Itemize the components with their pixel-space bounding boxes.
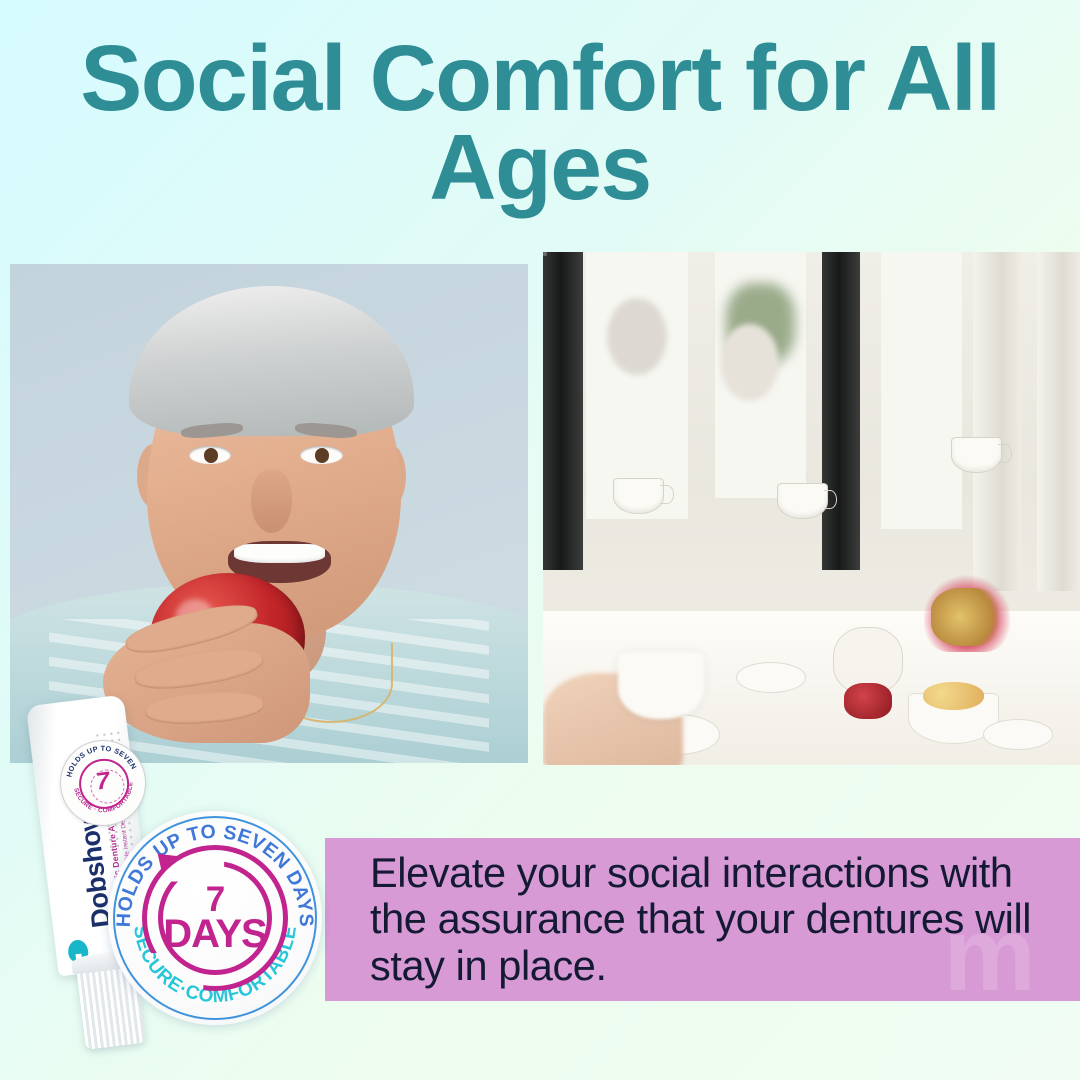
jam-jar (844, 683, 892, 719)
background-guest-2 (720, 324, 779, 401)
foreground-teacup (618, 652, 704, 719)
dark-column-1 (543, 252, 583, 570)
man-eye-left (189, 446, 231, 464)
dark-column-2 (822, 252, 860, 570)
light-column-2 (1037, 252, 1080, 591)
light-column-1 (973, 252, 1021, 591)
seven-day-hold-badge: HOLDS UP TO SEVEN DAYS SECURE·COMFORTABL… (108, 811, 322, 1025)
teacup-right (951, 437, 1002, 473)
title-line-2: Ages (40, 123, 1040, 212)
flower-centerpiece (924, 570, 1010, 652)
background-guest-1 (607, 298, 666, 375)
photo-seniors-tea-party (543, 252, 1080, 765)
plate-3 (983, 719, 1053, 750)
teacup-left (613, 478, 664, 514)
page-title: Social Comfort for All Ages (0, 34, 1080, 213)
caption-band: m Elevate your social interactions with … (325, 838, 1080, 1001)
photo-man-biting-apple (10, 264, 528, 763)
man-teeth (234, 544, 325, 563)
window-3 (881, 252, 962, 529)
title-line-1: Social Comfort for All (40, 34, 1040, 123)
teacup-center (777, 483, 828, 519)
caption-text: Elevate your social interactions with th… (370, 850, 1048, 989)
man-eye-right (300, 446, 342, 464)
badge-unit: DAYS (163, 914, 266, 954)
woman-center-glasses (543, 252, 547, 256)
badge-center-label: 7 DAYS (163, 882, 266, 954)
